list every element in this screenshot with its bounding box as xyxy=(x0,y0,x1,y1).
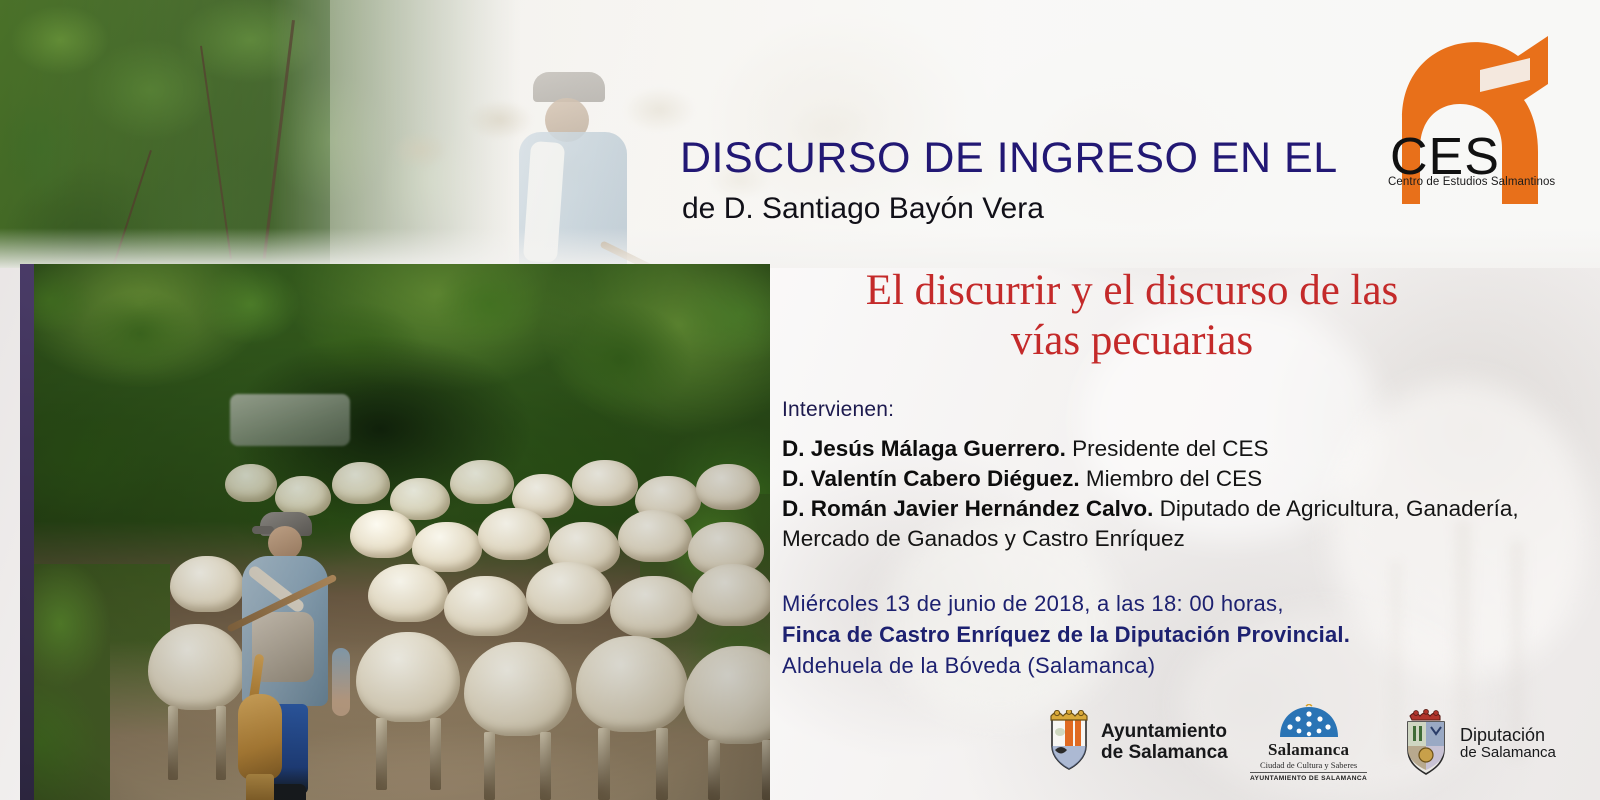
poster-canvas: DISCURSO DE INGRESO EN EL de D. Santiago… xyxy=(0,0,1600,800)
ces-tagline: Centro de Estudios Salmantinos xyxy=(1388,176,1555,188)
sponsor-line1: Salamanca xyxy=(1250,740,1367,760)
diputacion-shield-icon xyxy=(1400,708,1452,778)
event-datetime: Miércoles 13 de junio de 2018, a las 18:… xyxy=(782,588,1592,619)
participant-name: D. Román Javier Hernández Calvo. xyxy=(782,496,1153,521)
diputacion-label: Diputación de Salamanca xyxy=(1460,725,1556,762)
salamanca-dome-icon xyxy=(1276,704,1342,738)
event-venue: Finca de Castro Enríquez de la Diputació… xyxy=(782,619,1592,650)
participant-name: D. Valentín Cabero Diéguez. xyxy=(782,466,1080,491)
page-title: DISCURSO DE INGRESO EN EL xyxy=(680,134,1480,183)
sponsor-salamanca-cultura: Salamanca Ciudad de Cultura y Saberes AY… xyxy=(1250,704,1367,782)
photo-left-stripe xyxy=(20,264,34,800)
participant-row: D. Jesús Málaga Guerrero. Presidente del… xyxy=(782,434,1592,464)
lecture-title-line2: vías pecuarias xyxy=(782,316,1482,366)
sponsor-logos: Ayuntamiento de Salamanca Salamanca xyxy=(1045,698,1600,790)
salamanca-cultura-label: Salamanca Ciudad de Cultura y Saberes AY… xyxy=(1250,740,1367,782)
sponsor-line1: Diputación xyxy=(1460,725,1556,745)
main-photo-shepherd-flock xyxy=(20,264,770,800)
photo-vignette xyxy=(20,264,770,800)
participant-name: D. Jesús Málaga Guerrero. xyxy=(782,436,1066,461)
sponsor-ayuntamiento: Ayuntamiento de Salamanca xyxy=(1045,710,1228,774)
sponsor-line3: AYUNTAMIENTO DE SALAMANCA xyxy=(1250,772,1367,782)
event-details: Miércoles 13 de junio de 2018, a las 18:… xyxy=(782,588,1592,682)
page-subtitle: de D. Santiago Bayón Vera xyxy=(682,192,1044,226)
participant-role: Miembro del CES xyxy=(1086,466,1262,491)
lecture-title: El discurrir y el discurso de las vías p… xyxy=(782,266,1482,367)
ayuntamiento-shield-icon xyxy=(1045,710,1093,774)
participant-role: Presidente del CES xyxy=(1072,436,1268,461)
sponsor-line2: Ciudad de Cultura y Saberes xyxy=(1250,760,1367,770)
participant-role-continued: Mercado de Ganados y Castro Enríquez xyxy=(782,524,1592,554)
lecture-title-line1: El discurrir y el discurso de las xyxy=(782,266,1482,316)
sponsor-line2: de Salamanca xyxy=(1460,745,1556,762)
sponsor-diputacion: Diputación de Salamanca xyxy=(1400,708,1556,778)
sponsor-line2: de Salamanca xyxy=(1101,742,1228,763)
participant-row: D. Román Javier Hernández Calvo. Diputad… xyxy=(782,494,1592,554)
event-location: Aldehuela de la Bóveda (Salamanca) xyxy=(782,650,1592,681)
sponsor-line1: Ayuntamiento xyxy=(1101,721,1228,742)
participants-heading: Intervienen: xyxy=(782,398,894,422)
ayuntamiento-label: Ayuntamiento de Salamanca xyxy=(1101,721,1228,764)
participant-role: Diputado de Agricultura, Ganadería, xyxy=(1160,496,1519,521)
content-panel: DISCURSO DE INGRESO EN EL de D. Santiago… xyxy=(770,0,1600,800)
participant-row: D. Valentín Cabero Diéguez. Miembro del … xyxy=(782,464,1592,494)
participants-list: D. Jesús Málaga Guerrero. Presidente del… xyxy=(782,434,1592,555)
